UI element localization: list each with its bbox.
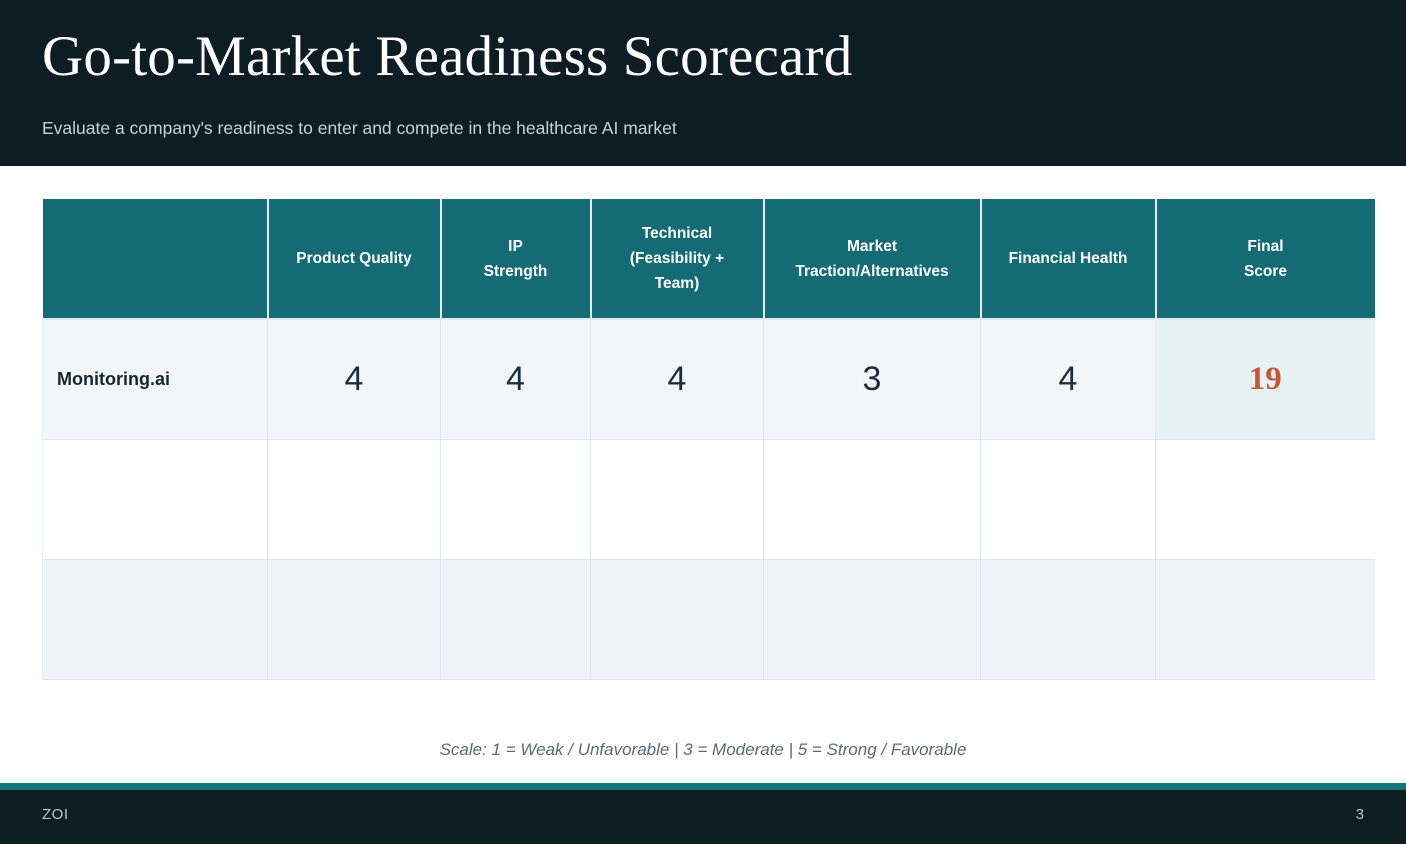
cell-ip-strength: 4 xyxy=(441,319,591,439)
cell-final-score xyxy=(1156,439,1375,559)
column-header-final-score: FinalScore xyxy=(1156,199,1375,319)
cell-company-name xyxy=(43,559,268,679)
page-title: Go-to-Market Readiness Scorecard xyxy=(42,22,852,92)
cell-financial-health xyxy=(981,559,1156,679)
cell-market-traction xyxy=(764,439,981,559)
table-header-row: Product Quality IPStrength Technical(Fea… xyxy=(43,199,1375,319)
cell-final-score: 19 xyxy=(1156,319,1375,439)
cell-technical xyxy=(591,439,764,559)
cell-product-quality: 4 xyxy=(268,319,441,439)
cell-technical: 4 xyxy=(591,319,764,439)
cell-financial-health xyxy=(981,439,1156,559)
cell-market-traction: 3 xyxy=(764,319,981,439)
cell-company-name xyxy=(43,439,268,559)
cell-ip-strength xyxy=(441,559,591,679)
footer-bar xyxy=(0,790,1406,844)
table-body: Monitoring.ai 4 4 4 3 4 19 xyxy=(43,319,1375,679)
cell-final-score xyxy=(1156,559,1375,679)
title-banner: Go-to-Market Readiness Scorecard Evaluat… xyxy=(0,0,1406,166)
column-header-company xyxy=(43,199,268,319)
cell-product-quality xyxy=(268,439,441,559)
footer-page-number: 3 xyxy=(1356,806,1364,823)
page-subtitle: Evaluate a company's readiness to enter … xyxy=(42,116,677,140)
table-header: Product Quality IPStrength Technical(Fea… xyxy=(43,199,1375,319)
column-header-financial-health: Financial Health xyxy=(981,199,1156,319)
table-row xyxy=(43,559,1375,679)
footer-brand: ZOI xyxy=(42,806,69,823)
cell-technical xyxy=(591,559,764,679)
cell-market-traction xyxy=(764,559,981,679)
cell-ip-strength xyxy=(441,439,591,559)
column-header-technical: Technical(Feasibility +Team) xyxy=(591,199,764,319)
table-row: Monitoring.ai 4 4 4 3 4 19 xyxy=(43,319,1375,439)
cell-financial-health: 4 xyxy=(981,319,1156,439)
column-header-market-traction: MarketTraction/Alternatives xyxy=(764,199,981,319)
scale-legend: Scale: 1 = Weak / Unfavorable | 3 = Mode… xyxy=(0,740,1406,760)
cell-company-name: Monitoring.ai xyxy=(43,319,268,439)
table-row xyxy=(43,439,1375,559)
cell-product-quality xyxy=(268,559,441,679)
footer-accent-bar xyxy=(0,783,1406,790)
column-header-product-quality: Product Quality xyxy=(268,199,441,319)
scorecard-table: Product Quality IPStrength Technical(Fea… xyxy=(42,199,1375,680)
column-header-ip-strength: IPStrength xyxy=(441,199,591,319)
scorecard-table-wrapper: Product Quality IPStrength Technical(Fea… xyxy=(42,199,1374,680)
